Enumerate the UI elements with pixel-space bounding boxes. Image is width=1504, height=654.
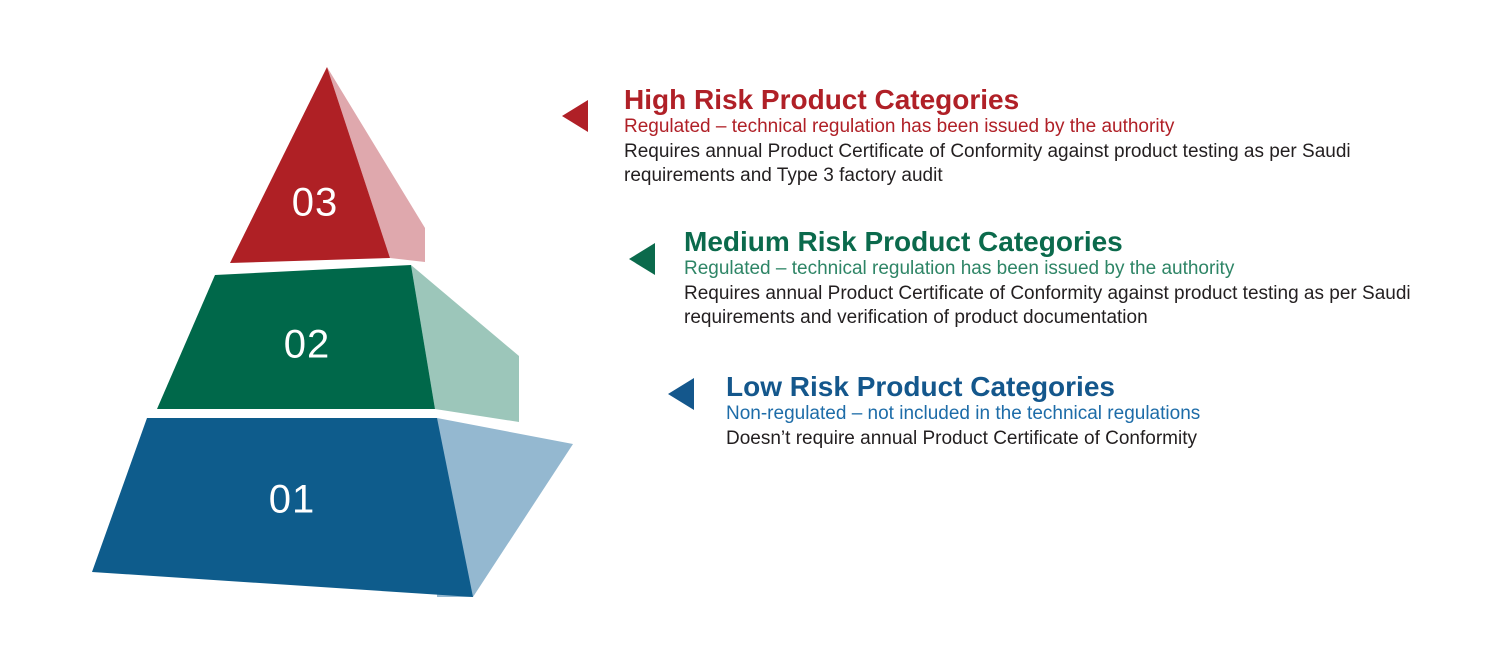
risk-block-high-text: High Risk Product Categories Regulated –… xyxy=(624,84,1464,187)
risk-subtitle-high: Regulated – technical regulation has bee… xyxy=(624,116,1464,138)
risk-block-low-text: Low Risk Product Categories Non-regulate… xyxy=(726,371,1486,451)
risk-subtitle-low: Non-regulated – not included in the tech… xyxy=(726,403,1486,425)
risk-pyramid-infographic: 01 02 03 High Risk Product Categories Re… xyxy=(0,0,1504,654)
risk-title-low: Low Risk Product Categories xyxy=(726,371,1486,402)
risk-subtitle-medium: Regulated – technical regulation has bee… xyxy=(684,258,1474,280)
pyramid-svg: 01 02 03 xyxy=(0,0,640,654)
left-triangle-icon xyxy=(668,378,694,410)
tier-03-number: 03 xyxy=(292,181,339,225)
pyramid-tier-01[interactable]: 01 xyxy=(92,418,573,597)
risk-block-medium-text: Medium Risk Product Categories Regulated… xyxy=(684,226,1474,329)
risk-description-high: Requires annual Product Certificate of C… xyxy=(624,140,1464,188)
left-triangle-icon xyxy=(562,100,588,132)
pyramid-diagram: 01 02 03 xyxy=(0,0,640,654)
tier-02-number: 02 xyxy=(284,323,331,367)
pyramid-tier-03[interactable]: 03 xyxy=(230,67,425,263)
risk-description-medium: Requires annual Product Certificate of C… xyxy=(684,282,1474,330)
left-triangle-icon xyxy=(629,243,655,275)
risk-description-low: Doesn’t require annual Product Certifica… xyxy=(726,427,1486,451)
risk-title-high: High Risk Product Categories xyxy=(624,84,1464,115)
tier-01-number: 01 xyxy=(269,478,316,522)
risk-title-medium: Medium Risk Product Categories xyxy=(684,226,1474,257)
pyramid-tier-02[interactable]: 02 xyxy=(157,265,519,422)
